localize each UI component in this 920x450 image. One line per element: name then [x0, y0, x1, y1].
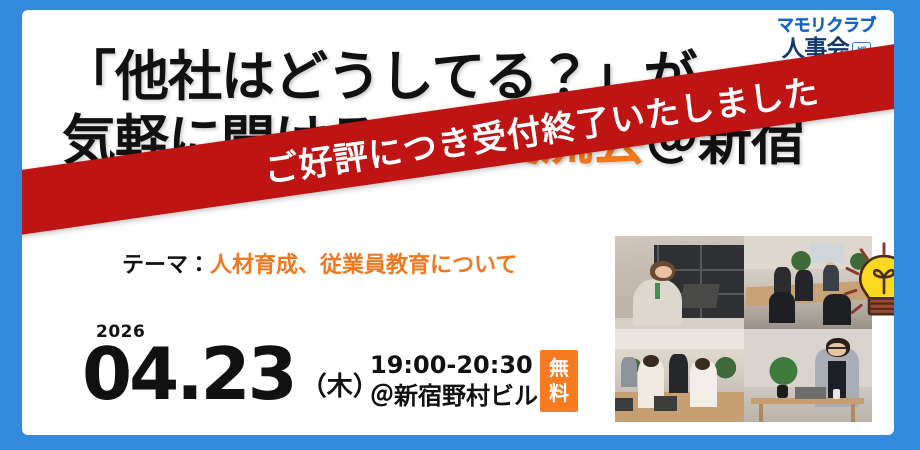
event-date-row: 04.23 （木）	[82, 340, 379, 408]
price-badge-line1: 無	[549, 356, 569, 381]
price-badge-line2: 料	[549, 381, 569, 406]
logo-line1: マモリクラブ	[777, 18, 876, 35]
photo-presenter-at-desk	[744, 329, 873, 422]
photo-grid	[615, 236, 872, 422]
theme-value: 人材育成、従業員教育について	[210, 253, 517, 278]
event-time: 19:00-20:30	[370, 350, 538, 381]
theme-line: テーマ：人材育成、従業員教育について	[122, 247, 517, 279]
photo-attendees-standing	[615, 329, 744, 422]
event-day: 04.23	[82, 340, 295, 408]
event-weekday: （木）	[301, 366, 379, 403]
event-date-block: 2026 04.23 （木）	[82, 322, 379, 408]
theme-label: テーマ：	[122, 253, 210, 278]
event-details-block: 19:00-20:30 ＠新宿野村ビル	[370, 350, 538, 411]
poster-card: マモリクラブ 人事会 HR 「他社はどうしてる？」が 気軽に聞ける人事交流会＠新…	[22, 10, 894, 435]
event-poster: マモリクラブ 人事会 HR 「他社はどうしてる？」が 気軽に聞ける人事交流会＠新…	[0, 0, 920, 450]
lightbulb-icon	[840, 242, 894, 330]
photo-woman-at-laptop	[615, 236, 744, 329]
price-badge: 無 料	[540, 350, 578, 412]
event-venue: ＠新宿野村ビル	[370, 381, 538, 412]
